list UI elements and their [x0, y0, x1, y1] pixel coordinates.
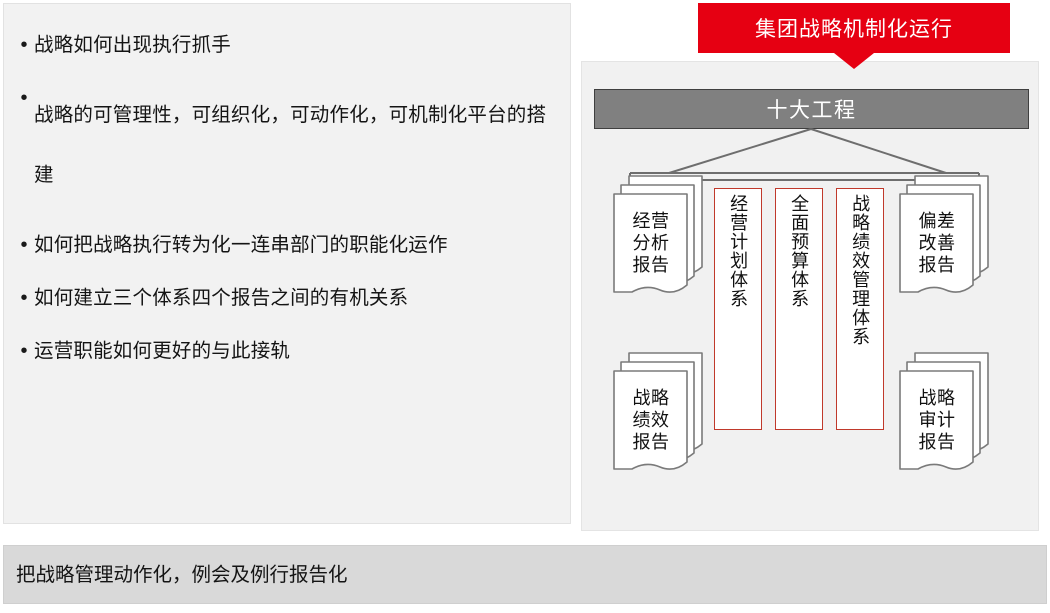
document-stack-icon [613, 352, 703, 479]
document-stack-icon [613, 175, 703, 302]
banner-callout: 集团战略机制化运行 [698, 3, 1010, 69]
bullet-dot-icon: • [14, 285, 34, 311]
report-business-analysis[interactable]: 经营 分析 报告 [613, 175, 703, 302]
system-box-2-label: 全面预算体系 [789, 194, 809, 308]
report-strategy-performance[interactable]: 战略 绩效 报告 [613, 352, 703, 479]
bottom-caption-bar: 把战略管理动作化，例会及例行报告化 [3, 545, 1047, 604]
bullet-text-4: 如何建立三个体系四个报告之间的有机关系 [34, 285, 562, 311]
system-box-1-label: 经营计划体系 [728, 194, 748, 308]
top-bar-ten-projects: 十大工程 [594, 89, 1029, 129]
slide-canvas: • 战略如何出现执行抓手 • 战略的可管理性，可组织化，可动作化，可机制化平台的… [0, 0, 1050, 613]
bullet-item-4: • 如何建立三个体系四个报告之间的有机关系 [14, 285, 562, 311]
left-content-panel: • 战略如何出现执行抓手 • 战略的可管理性，可组织化，可动作化，可机制化平台的… [3, 3, 571, 524]
bullet-dot-icon: • [14, 85, 34, 111]
connector-diagonal-left [669, 129, 811, 173]
bullet-item-5: • 运营职能如何更好的与此接轨 [14, 338, 562, 364]
bottom-caption-text: 把战略管理动作化，例会及例行报告化 [4, 562, 348, 588]
bullet-item-3: • 如何把战略执行转为化一连串部门的职能化运作 [14, 232, 562, 258]
bullet-dot-icon: • [14, 338, 34, 364]
document-stack-icon [899, 175, 989, 302]
bullet-text-3: 如何把战略执行转为化一连串部门的职能化运作 [34, 232, 562, 258]
system-box-3[interactable]: 战略绩效管理体系 [836, 188, 884, 430]
report-deviation-improvement[interactable]: 偏差 改善 报告 [899, 175, 989, 302]
system-box-1[interactable]: 经营计划体系 [714, 188, 762, 430]
bullet-item-1: • 战略如何出现执行抓手 [14, 32, 562, 58]
bullet-item-2: • 战略的可管理性，可组织化，可动作化，可机制化平台的搭建 [14, 85, 562, 205]
bullet-dot-icon: • [14, 32, 34, 58]
report-strategy-audit[interactable]: 战略 审计 报告 [899, 352, 989, 479]
bullet-list: • 战略如何出现执行抓手 • 战略的可管理性，可组织化，可动作化，可机制化平台的… [14, 32, 562, 391]
bullet-text-5: 运营职能如何更好的与此接轨 [34, 338, 562, 364]
document-stack-icon [899, 352, 989, 479]
diagram-panel: 十大工程 经营计划体系 全面 [581, 61, 1039, 531]
system-box-2[interactable]: 全面预算体系 [775, 188, 823, 430]
bullet-text-1: 战略如何出现执行抓手 [34, 32, 562, 58]
bullet-dot-icon: • [14, 232, 34, 258]
banner-shape-icon [698, 3, 1010, 69]
connector-diagonal-right [811, 129, 946, 173]
bullet-text-2: 战略的可管理性，可组织化，可动作化，可机制化平台的搭建 [34, 85, 562, 205]
system-box-3-label: 战略绩效管理体系 [850, 194, 870, 346]
top-bar-label: 十大工程 [767, 94, 857, 124]
